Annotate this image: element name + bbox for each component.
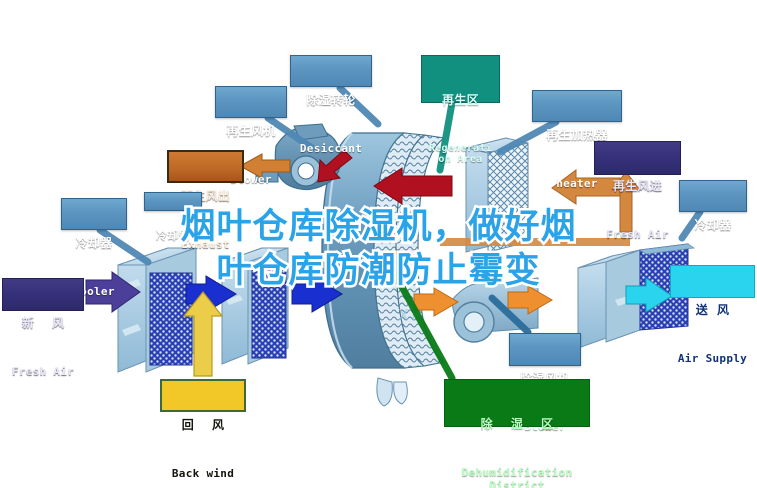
label-air-supply-cn: 送 风 <box>671 304 754 317</box>
label-dehumidify-blower[interactable]: 除湿风机 Blower <box>509 333 581 366</box>
label-air-supply-en: Air Supply <box>671 353 754 365</box>
label-desiccant-wheel[interactable]: 除湿转轮 Desiccant <box>290 55 372 87</box>
label-regeneration-area[interactable]: 再生区 Regenerati on Area <box>421 55 500 103</box>
label-regeneration-blower[interactable]: 再生风机 Blower <box>215 86 287 118</box>
label-cooler-mid[interactable]: 冷却器 <box>144 192 202 211</box>
label-desiccant-wheel-en: Desiccant <box>291 143 371 155</box>
label-regeneration-fresh-air-in-cn: 再生风进 <box>595 180 680 193</box>
label-cooler-mid-cn: 冷却器 <box>145 230 201 242</box>
label-desiccant-wheel-cn: 除湿转轮 <box>291 94 371 107</box>
label-cooler-left[interactable]: 冷却器 Cooler <box>61 198 127 230</box>
label-cooler-left-cn: 冷却器 <box>62 237 126 250</box>
label-cooler-right-cn: 冷却器 <box>680 219 746 232</box>
label-regeneration-heater[interactable]: 再生加热器 heater <box>532 90 622 122</box>
label-cooler-right[interactable]: 冷却器 Cooler <box>679 180 747 212</box>
label-regeneration-area-cn: 再生区 <box>422 94 499 107</box>
label-exhaust[interactable]: 再生风出 Exhaust <box>167 150 244 183</box>
label-regeneration-fresh-air-in-en: Fresh Air <box>595 229 680 241</box>
label-dehumidification-district[interactable]: 除 湿 区 Dehumidification District <box>444 379 590 427</box>
label-fresh-air-in-cn: 新 风 <box>3 317 83 330</box>
label-regeneration-blower-cn: 再生风机 <box>216 125 286 138</box>
dehumidifier-diagram: XT <box>0 0 757 488</box>
label-dehumidification-district-cn: 除 湿 区 <box>445 418 589 431</box>
label-regeneration-fresh-air-in[interactable]: 再生风进 Fresh Air <box>594 141 681 175</box>
label-back-wind-en: Back wind <box>162 468 244 480</box>
label-back-wind-cn: 回 风 <box>162 419 244 432</box>
label-air-supply[interactable]: 送 风 Air Supply <box>670 265 755 298</box>
label-dehumidification-district-en: Dehumidification District <box>445 467 589 488</box>
label-regeneration-area-en: Regenerati on Area <box>422 143 499 165</box>
label-fresh-air-in[interactable]: 新 风 Fresh Air <box>2 278 84 311</box>
label-fresh-air-in-en: Fresh Air <box>3 366 83 378</box>
label-back-wind[interactable]: 回 风 Back wind <box>160 379 246 412</box>
